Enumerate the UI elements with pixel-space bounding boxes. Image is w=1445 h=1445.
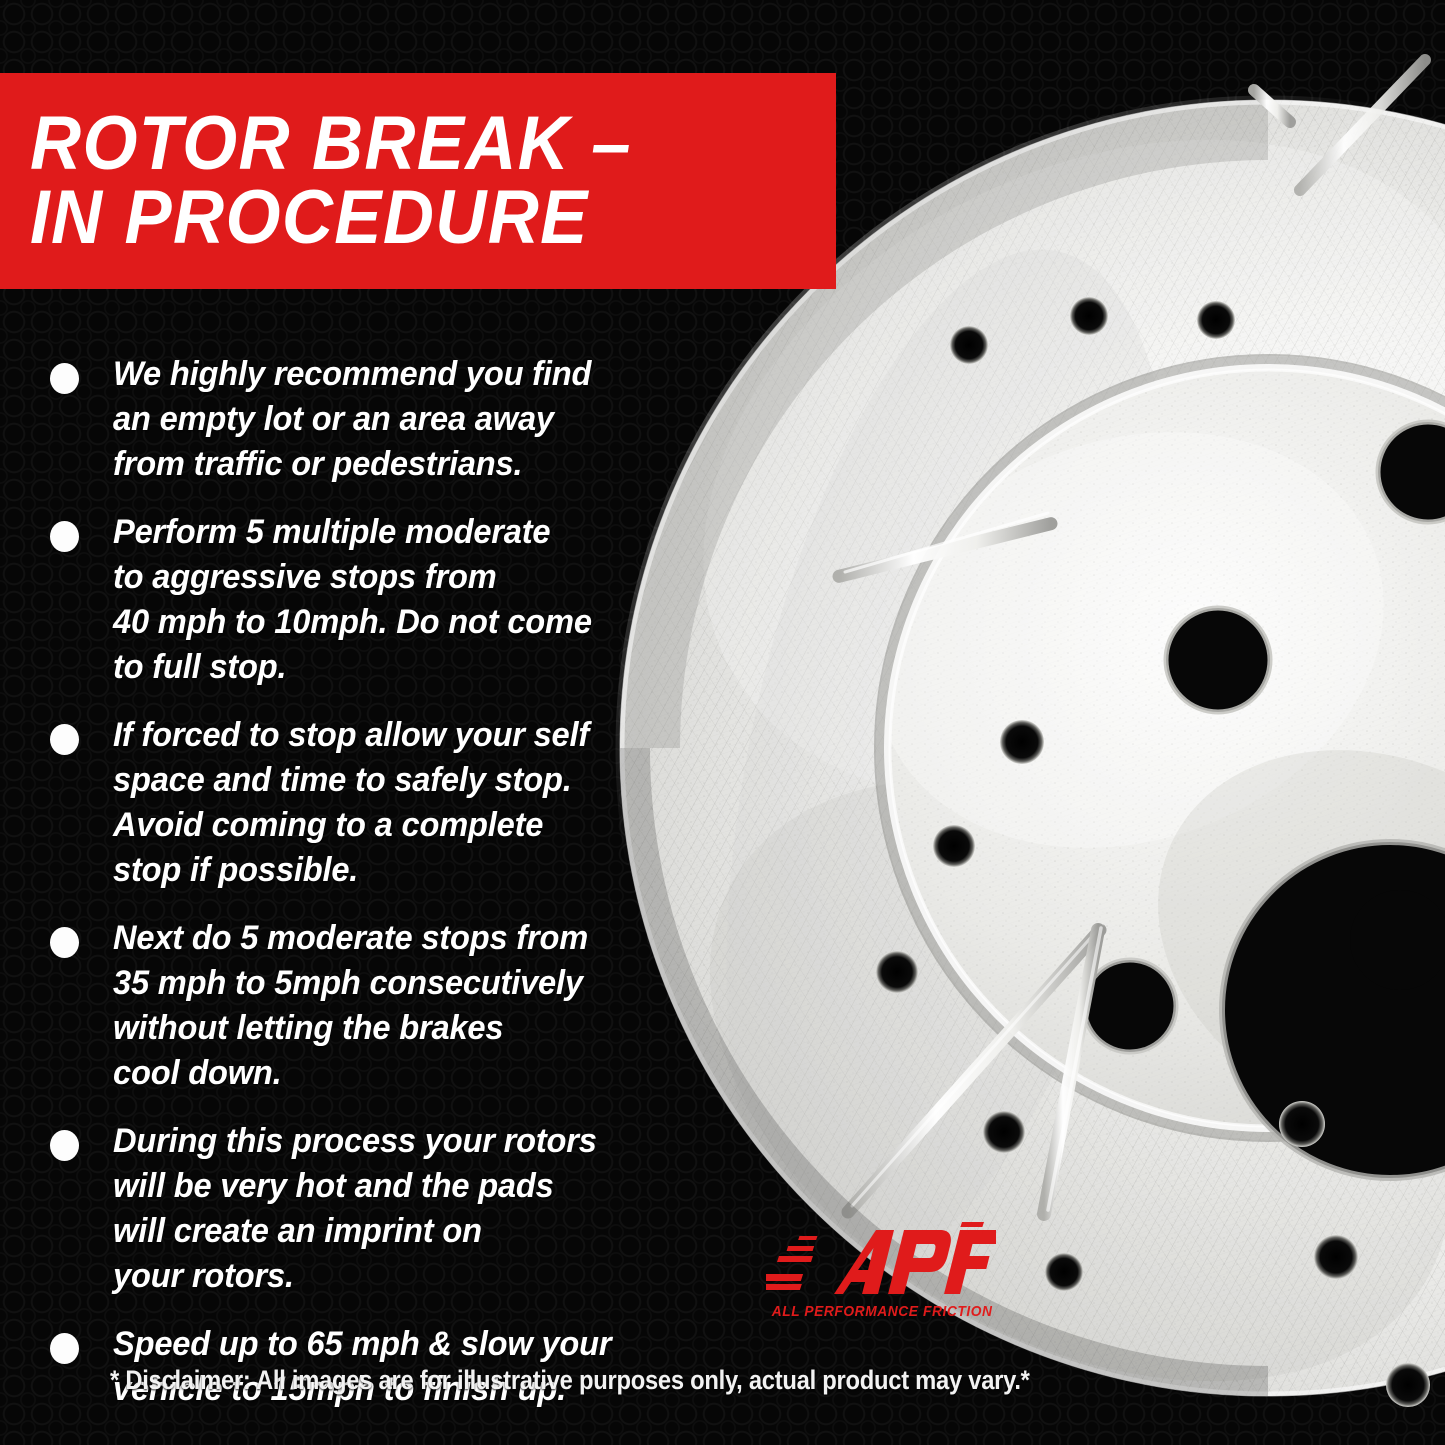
procedure-steps-list: We highly recommend you find an empty lo… xyxy=(0,352,790,1435)
page-title-line-2: IN PROCEDURE xyxy=(30,181,780,255)
list-item-text: Perform 5 multiple moderate to aggressiv… xyxy=(113,510,763,690)
disclaimer-text: * Disclaimer: All images are for illustr… xyxy=(110,1365,1030,1396)
list-item: Next do 5 moderate stops from 35 mph to … xyxy=(0,916,790,1096)
list-item-text: During this process your rotors will be … xyxy=(113,1119,763,1299)
bullet-dot-icon xyxy=(50,521,79,552)
apf-logo: ALL PERFORMANCE FRICTION xyxy=(766,1222,996,1332)
bullet-dot-icon xyxy=(50,927,79,958)
rotor-break-in-infographic: ROTOR BREAK – IN PROCEDURE We highly rec… xyxy=(0,0,1445,1445)
apf-wordmark-icon xyxy=(766,1222,996,1304)
list-item: Perform 5 multiple moderate to aggressiv… xyxy=(0,510,790,690)
list-item: We highly recommend you find an empty lo… xyxy=(0,352,790,487)
list-item: If forced to stop allow your self space … xyxy=(0,713,790,893)
list-item-text: Next do 5 moderate stops from 35 mph to … xyxy=(113,916,763,1096)
title-banner: ROTOR BREAK – IN PROCEDURE xyxy=(0,73,836,289)
bullet-dot-icon xyxy=(50,363,79,394)
bullet-dot-icon xyxy=(50,1130,79,1161)
page-title-line-1: ROTOR BREAK – xyxy=(30,107,780,181)
bullet-dot-icon xyxy=(50,1333,79,1364)
list-item-text: If forced to stop allow your self space … xyxy=(113,713,763,893)
bullet-dot-icon xyxy=(50,724,79,755)
list-item: During this process your rotors will be … xyxy=(0,1119,790,1299)
apf-tagline: ALL PERFORMANCE FRICTION xyxy=(772,1304,991,1320)
list-item-text: We highly recommend you find an empty lo… xyxy=(113,352,763,487)
